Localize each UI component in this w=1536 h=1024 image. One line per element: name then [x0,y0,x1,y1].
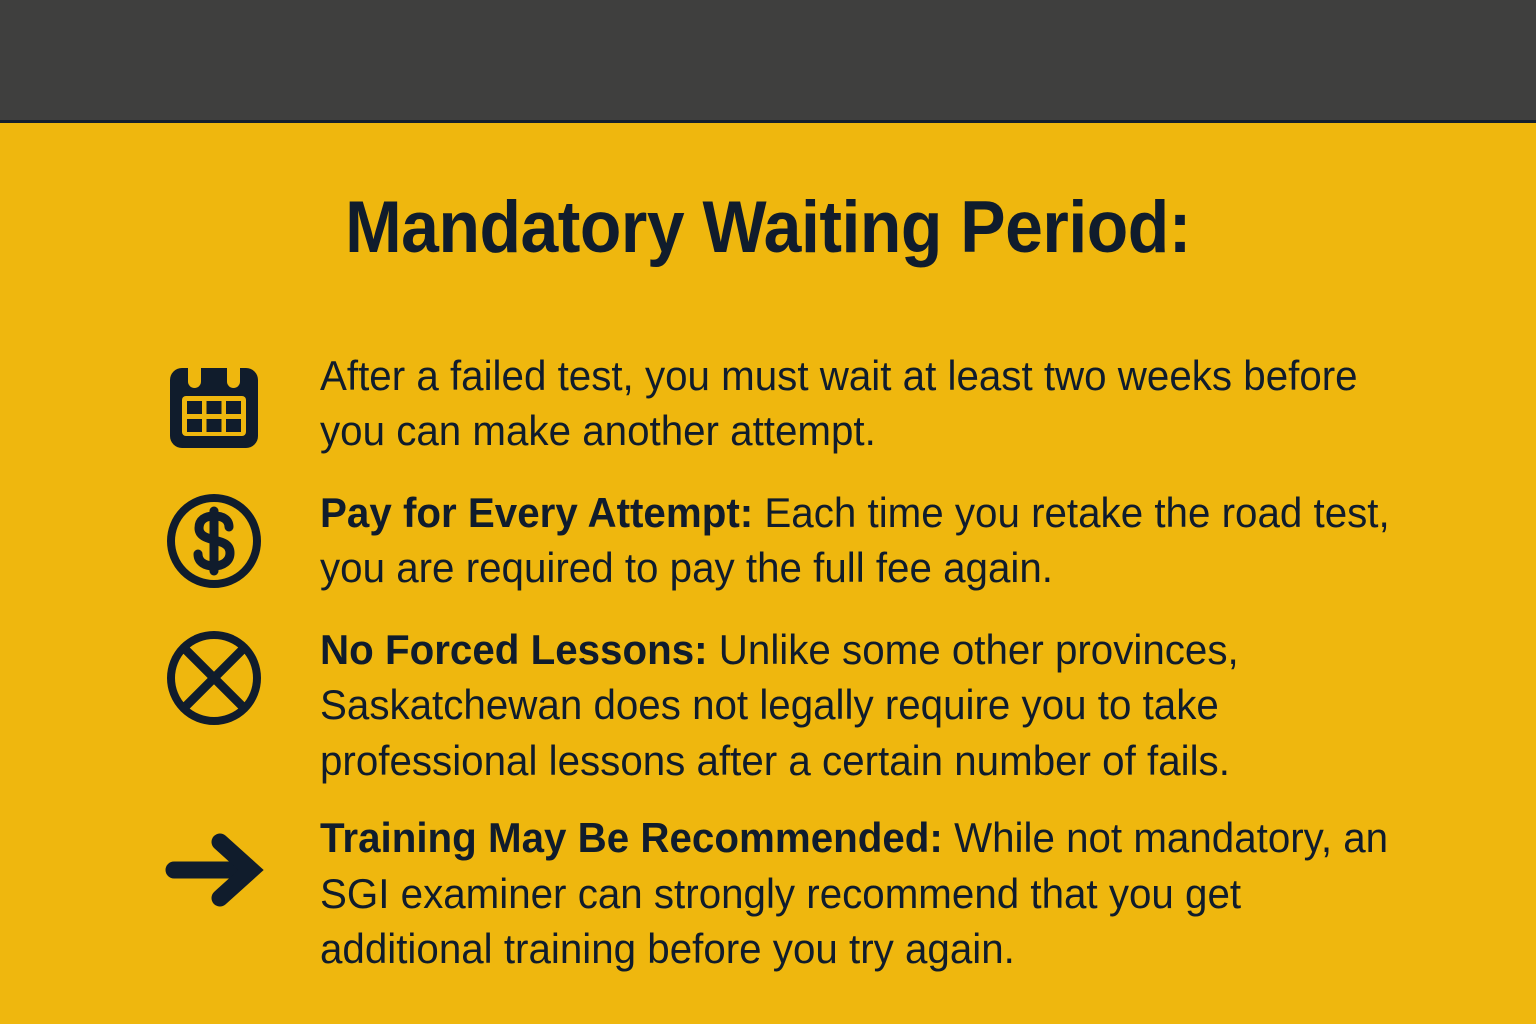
list-item: After a failed test, you must wait at le… [0,348,1536,459]
list-item-text: After a failed test, you must wait at le… [320,348,1395,459]
bullet-list: After a failed test, you must wait at le… [0,348,1536,976]
list-item: No Forced Lessons: Unlike some other pro… [0,622,1536,788]
list-item-lead: No Forced Lessons: [320,626,708,673]
poster-body: Mandatory Waiting Period: [0,123,1536,1024]
list-item: Pay for Every Attempt: Each time you ret… [0,485,1536,596]
list-item-lead: Pay for Every Attempt: [320,489,753,536]
list-item: Training May Be Recommended: While not m… [0,810,1536,976]
poster-canvas: Mandatory Waiting Period: [0,0,1536,1024]
list-item-text: Pay for Every Attempt: Each time you ret… [320,485,1395,596]
page-title: Mandatory Waiting Period: [54,191,1482,264]
list-item-text: Training May Be Recommended: While not m… [320,810,1395,976]
list-item-body: After a failed test, you must wait at le… [320,352,1358,454]
list-item-text: No Forced Lessons: Unlike some other pro… [320,622,1395,788]
x-circle-icon [160,624,268,732]
dollar-circle-icon [160,487,268,595]
arrow-right-icon [160,816,268,924]
list-item-lead: Training May Be Recommended: [320,814,943,861]
calendar-icon [160,350,268,458]
top-bar [0,0,1536,120]
